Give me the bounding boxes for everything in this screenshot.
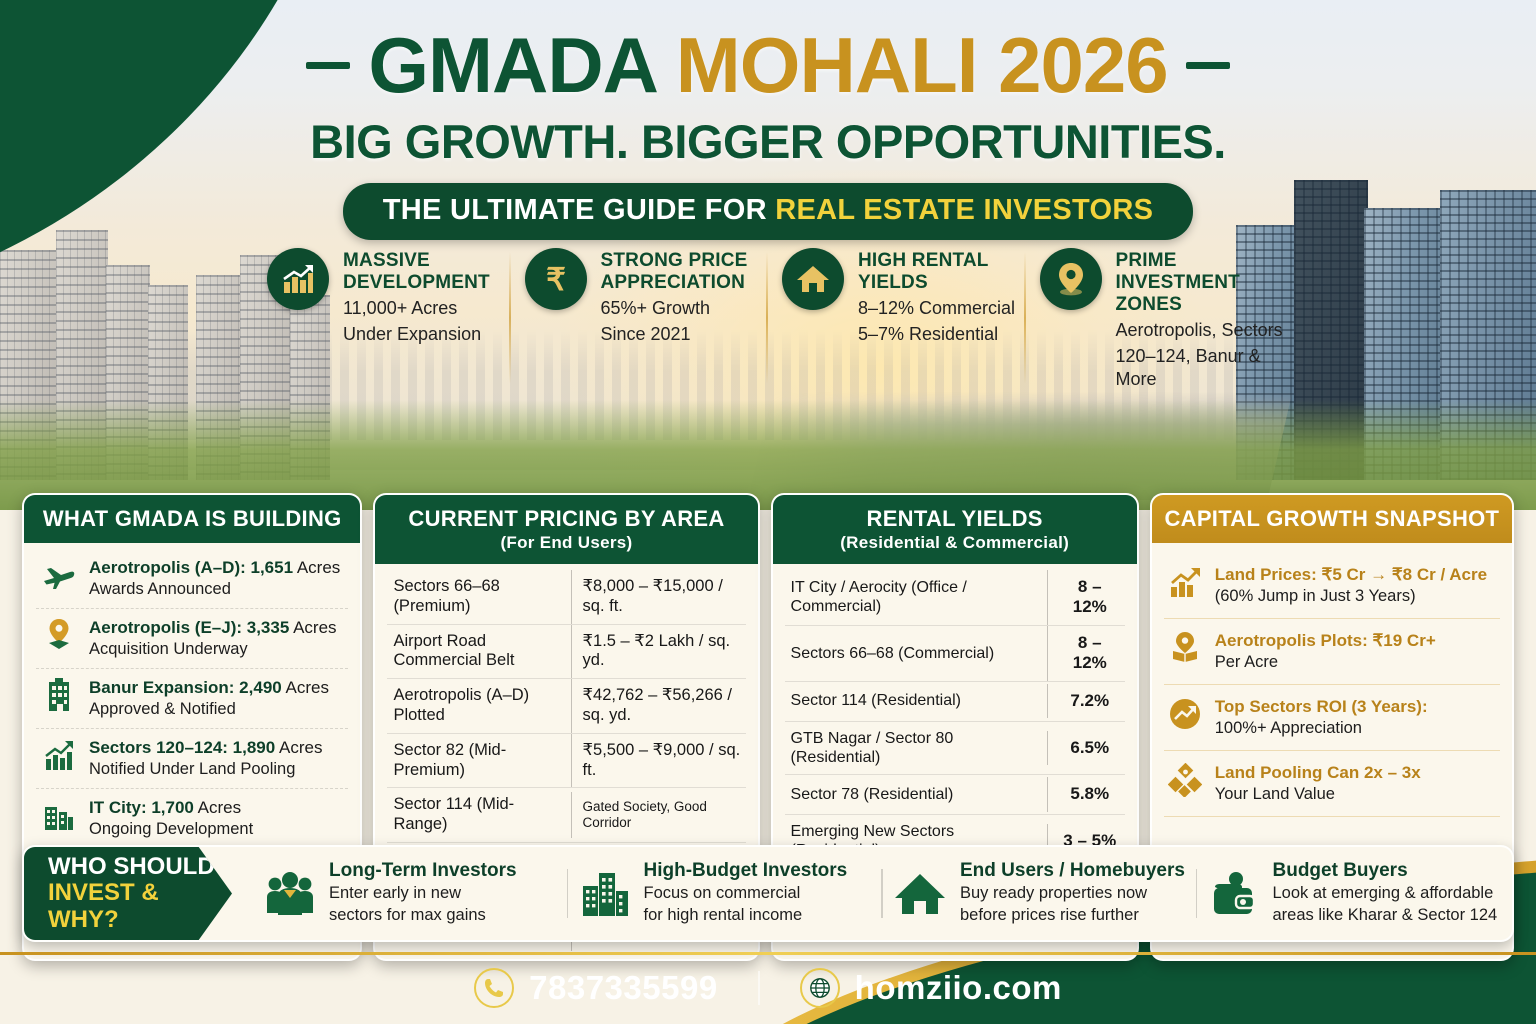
who-item-sub1: Buy ready properties now <box>960 883 1185 904</box>
list-item-title: Land Pooling Can 2x – 3x <box>1215 763 1421 783</box>
table-row: Sectors 66–68 (Commercial) 8 – 12% <box>785 626 1125 682</box>
growth-chart-icon <box>40 737 78 773</box>
footer-phone-number: 7837335599 <box>529 969 718 1007</box>
who-item-heading: Budget Buyers <box>1273 860 1498 882</box>
who-should-invest-tag: WHO SHOULD INVEST & WHY? <box>24 847 232 940</box>
home-icon <box>782 248 844 310</box>
who-item-sub2: sectors for max gains <box>329 905 517 926</box>
pricing-area: Sector 114 (Mid-Range) <box>387 788 570 842</box>
stat-price-appreciation: ₹ STRONG PRICE APPRECIATION 65%+ Growth … <box>513 248 771 392</box>
growth-chart-icon <box>267 248 329 310</box>
stat-line1: 65%+ Growth <box>601 297 771 320</box>
list-item: Sectors 120–124: 1,890 Acres Notified Un… <box>36 729 348 789</box>
list-item-sub: Ongoing Development <box>89 819 253 840</box>
who-item-sub2: for high rental income <box>644 905 848 926</box>
stat-line2: 120–124, Banur & More <box>1116 345 1286 392</box>
airplane-icon <box>40 557 78 593</box>
yield-value: 5.8% <box>1047 777 1125 811</box>
list-item: IT City: 1,700 Acres Ongoing Development <box>36 789 348 848</box>
who-item-heading: Long-Term Investors <box>329 860 517 882</box>
infographic-poster: GMADA MOHALI 2026 BIG GROWTH. BIGGER OPP… <box>0 0 1536 1024</box>
table-row: Sectors 66–68 (Premium) ₹8,000 – ₹15,000… <box>387 570 745 625</box>
table-row: Sector 82 (Mid-Premium) ₹5,500 – ₹9,000 … <box>387 734 745 789</box>
building-icon <box>40 677 78 713</box>
who-item-heading: High-Budget Investors <box>644 860 848 882</box>
table-row: IT City / Aerocity (Office / Commercial)… <box>785 570 1125 626</box>
list-item: Aerotropolis (A–D): 1,651 Acres Awards A… <box>36 549 348 609</box>
who-item-long-term-investors: Long-Term Investors Enter early in new s… <box>254 860 569 926</box>
card-title: RENTAL YIELDS (Residential & Commercial) <box>773 495 1137 564</box>
table-row: Sector 78 (Residential) 5.8% <box>785 775 1125 815</box>
list-item: Banur Expansion: 2,490 Acres Approved & … <box>36 669 348 729</box>
who-item-sub1: Look at emerging & affordable <box>1273 883 1498 904</box>
list-item-title: IT City: 1,700 <box>89 798 194 817</box>
who-item-end-users-homebuyers: End Users / Homebuyers Buy ready propert… <box>883 860 1198 926</box>
list-item: Land Prices: ₹5 Cr → ₹8 Cr / Acre (60% J… <box>1164 553 1500 619</box>
list-item-unit: Acres <box>289 618 336 637</box>
globe-icon <box>800 968 840 1008</box>
title-dash-right <box>1186 62 1230 69</box>
guide-pill-prefix: THE ULTIMATE GUIDE FOR <box>383 194 775 226</box>
group-people-icon <box>264 868 316 920</box>
stat-line2: 5–7% Residential <box>858 323 1028 346</box>
list-item-title: Land Prices: ₹5 Cr → ₹8 Cr / Acre <box>1215 565 1487 585</box>
table-row: Airport Road Commercial Belt ₹1.5 – ₹2 L… <box>387 625 745 680</box>
pricing-value: ₹42,762 – ₹56,266 / sq. yd. <box>571 679 746 733</box>
list-item-sub: 100%+ Appreciation <box>1215 718 1428 739</box>
list-item-sub: Per Acre <box>1215 652 1436 673</box>
pricing-area: Sector 82 (Mid-Premium) <box>387 734 570 788</box>
title-primary: GMADA <box>368 21 655 109</box>
phone-icon <box>474 968 514 1008</box>
who-item-sub1: Enter early in new <box>329 883 517 904</box>
contact-footer: 7837335599 homziio.com <box>0 952 1536 1024</box>
city-icon <box>40 797 78 833</box>
footer-website-url: homziio.com <box>855 969 1062 1007</box>
land-pooling-icon <box>1166 762 1204 798</box>
list-item-unit: Acres <box>275 738 322 757</box>
roi-circle-icon <box>1166 696 1204 732</box>
yield-value: 6.5% <box>1047 731 1125 765</box>
pricing-area: Aerotropolis (A–D) Plotted <box>387 679 570 733</box>
stat-rental-yields: HIGH RENTAL YIELDS 8–12% Commercial 5–7%… <box>770 248 1028 392</box>
list-item-sub: Acquisition Underway <box>89 639 337 660</box>
land-pin-icon <box>1166 630 1204 666</box>
yield-area: GTB Nagar / Sector 80 (Residential) <box>785 722 1047 774</box>
stat-line1: 11,000+ Acres <box>343 297 513 320</box>
pricing-value: ₹8,000 – ₹15,000 / sq. ft. <box>571 570 746 624</box>
pricing-area: Airport Road Commercial Belt <box>387 625 570 679</box>
yield-area: IT City / Aerocity (Office / Commercial) <box>785 571 1047 623</box>
list-item-title: Aerotropolis (A–D): 1,651 <box>89 558 293 577</box>
who-tag-line1: WHO SHOULD <box>48 854 232 880</box>
list-item-title: Aerotropolis (E–J): 3,335 <box>89 618 289 637</box>
stat-strip: MASSIVE DEVELOPMENT 11,000+ Acres Under … <box>255 248 1285 392</box>
rupee-icon: ₹ <box>525 248 587 310</box>
card-title-main: RENTAL YIELDS <box>867 506 1043 531</box>
list-item-sub: Awards Announced <box>89 579 340 600</box>
stat-heading: MASSIVE DEVELOPMENT <box>343 250 513 294</box>
table-row: Sector 114 (Residential) 7.2% <box>785 682 1125 722</box>
poster-subtitle: BIG GROWTH. BIGGER OPPORTUNITIES. <box>0 114 1536 169</box>
stat-heading: STRONG PRICE APPRECIATION <box>601 250 771 294</box>
guide-pill: THE ULTIMATE GUIDE FOR REAL ESTATE INVES… <box>343 183 1193 240</box>
pricing-value: ₹1.5 – ₹2 Lakh / sq. yd. <box>571 625 746 679</box>
footer-website[interactable]: homziio.com <box>800 968 1062 1008</box>
card-title: CURRENT PRICING BY AREA (For End Users) <box>375 495 757 564</box>
card-subtitle: (For End Users) <box>381 533 751 553</box>
yield-value: 8 – 12% <box>1047 626 1125 681</box>
table-row: Sector 114 (Mid-Range) Gated Society, Go… <box>387 788 745 843</box>
stat-line2: Under Expansion <box>343 323 513 346</box>
title-dash-left <box>306 62 350 69</box>
card-title: WHAT GMADA IS BUILDING <box>24 495 360 543</box>
who-item-heading: End Users / Homebuyers <box>960 860 1185 882</box>
list-item-unit: Acres <box>194 798 241 817</box>
list-item: Land Pooling Can 2x – 3x Your Land Value <box>1164 751 1500 817</box>
card-title-main: CURRENT PRICING BY AREA <box>408 506 724 531</box>
list-item-title: Sectors 120–124: 1,890 <box>89 738 275 757</box>
who-tag-line2: INVEST & WHY? <box>48 880 232 933</box>
yield-value: 8 – 12% <box>1047 570 1125 625</box>
who-item-budget-buyers: Budget Buyers Look at emerging & afforda… <box>1198 860 1513 926</box>
title-secondary: MOHALI 2026 <box>676 21 1168 109</box>
poster-header: GMADA MOHALI 2026 BIG GROWTH. BIGGER OPP… <box>0 0 1536 240</box>
who-should-invest-bar: WHO SHOULD INVEST & WHY? Long-Term Inves… <box>22 845 1514 942</box>
map-pin-icon <box>1040 248 1102 310</box>
growth-chart-icon <box>1166 564 1204 600</box>
stat-line2: Since 2021 <box>601 323 771 346</box>
stat-heading: PRIME INVESTMENT ZONES <box>1116 250 1286 316</box>
map-pin-icon <box>40 617 78 653</box>
who-item-sub2: areas like Kharar & Sector 124 <box>1273 905 1498 926</box>
card-title: CAPITAL GROWTH SNAPSHOT <box>1152 495 1512 543</box>
list-item-title: Aerotropolis Plots: ₹19 Cr+ <box>1215 631 1436 651</box>
list-item-title: Top Sectors ROI (3 Years): <box>1215 697 1428 717</box>
list-item-unit: Acres <box>282 678 329 697</box>
footer-separator <box>758 971 760 1005</box>
list-item-sub: Notified Under Land Pooling <box>89 759 322 780</box>
who-item-sub2: before prices rise further <box>960 905 1185 926</box>
yield-area: Sectors 66–68 (Commercial) <box>785 637 1047 670</box>
card-subtitle: (Residential & Commercial) <box>779 533 1131 553</box>
stat-line1: 8–12% Commercial <box>858 297 1028 320</box>
footer-phone[interactable]: 7837335599 <box>474 968 718 1008</box>
table-row: Aerotropolis (A–D) Plotted ₹42,762 – ₹56… <box>387 679 745 734</box>
stat-line1: Aerotropolis, Sectors <box>1116 319 1286 342</box>
list-item: Top Sectors ROI (3 Years): 100%+ Appreci… <box>1164 685 1500 751</box>
pricing-area: Sectors 66–68 (Premium) <box>387 570 570 624</box>
home-icon <box>893 868 947 920</box>
guide-pill-highlight: REAL ESTATE INVESTORS <box>775 194 1153 226</box>
list-item-title: Banur Expansion: 2,490 <box>89 678 282 697</box>
yield-area: Sector 114 (Residential) <box>785 684 1047 717</box>
list-item-sub: Approved & Notified <box>89 699 329 720</box>
list-item-sub: Your Land Value <box>1215 784 1421 805</box>
office-buildings-icon <box>579 868 631 920</box>
stat-massive-development: MASSIVE DEVELOPMENT 11,000+ Acres Under … <box>255 248 513 392</box>
stat-heading: HIGH RENTAL YIELDS <box>858 250 1028 294</box>
list-item-unit: Acres <box>293 558 340 577</box>
list-item-sub: (60% Jump in Just 3 Years) <box>1215 586 1487 607</box>
list-item: Aerotropolis Plots: ₹19 Cr+ Per Acre <box>1164 619 1500 685</box>
table-row: GTB Nagar / Sector 80 (Residential) 6.5% <box>785 722 1125 775</box>
svg-text:₹: ₹ <box>546 262 566 297</box>
pricing-value: ₹5,500 – ₹9,000 / sq. ft. <box>571 734 746 788</box>
title-row: GMADA MOHALI 2026 <box>0 26 1536 104</box>
yield-value: 7.2% <box>1047 684 1125 718</box>
wallet-icon <box>1208 868 1260 920</box>
yield-area: Sector 78 (Residential) <box>785 778 1047 811</box>
list-item: Aerotropolis (E–J): 3,335 Acres Acquisit… <box>36 609 348 669</box>
stat-investment-zones: PRIME INVESTMENT ZONES Aerotropolis, Sec… <box>1028 248 1286 392</box>
who-item-high-budget-investors: High-Budget Investors Focus on commercia… <box>569 860 884 926</box>
who-item-sub1: Focus on commercial <box>644 883 848 904</box>
pricing-value: Gated Society, Good Corridor <box>571 792 746 838</box>
